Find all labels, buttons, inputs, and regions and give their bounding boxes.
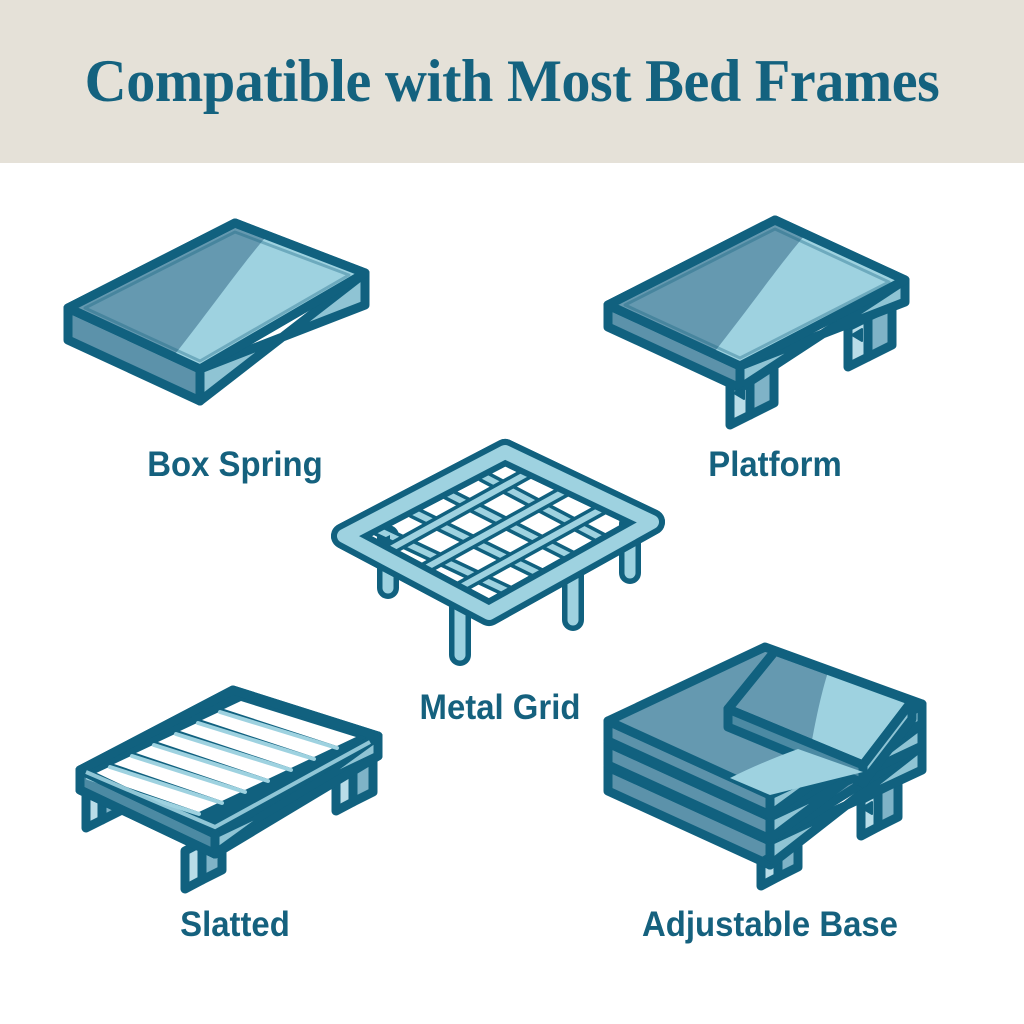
figure-adjustable-base [600, 645, 945, 890]
page-title: Compatible with Most Bed Frames [15, 0, 1008, 163]
figure-platform [600, 205, 950, 435]
slatted-icon [70, 668, 400, 898]
platform-icon [600, 205, 950, 435]
adjustable-base-icon [600, 645, 945, 890]
infographic-page: Compatible with Most Bed Frames Box Spri… [0, 0, 1024, 1024]
figure-slatted [70, 668, 400, 898]
figure-box-spring [60, 205, 410, 435]
figure-metal-grid [330, 440, 670, 670]
figure-label-adjustable-base: Adjustable Base [591, 905, 948, 945]
metal-grid-icon [330, 440, 670, 670]
box-spring-icon [60, 205, 410, 435]
figure-label-slatted: Slatted [80, 905, 390, 945]
